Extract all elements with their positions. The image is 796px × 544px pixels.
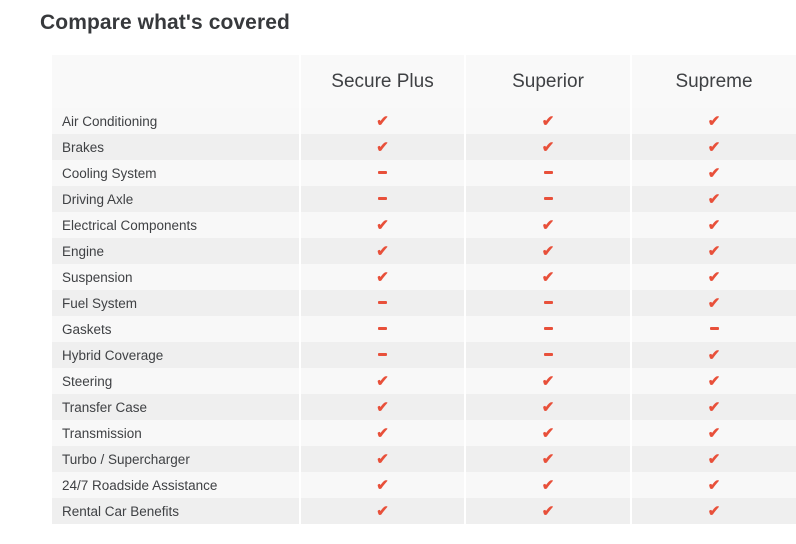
check-icon: ✔ (542, 400, 555, 415)
check-icon: ✔ (542, 452, 555, 467)
check-icon: ✔ (376, 244, 389, 259)
coverage-cell-supreme: ✔ (631, 420, 796, 446)
dash-icon (378, 327, 387, 330)
table-row: Fuel System✔ (52, 290, 796, 316)
check-icon: ✔ (708, 244, 721, 259)
check-icon: ✔ (708, 452, 721, 467)
table-row: Electrical Components✔✔✔ (52, 212, 796, 238)
table-header: Secure Plus Superior Supreme (52, 55, 796, 108)
coverage-comparison-table-wrapper: Secure Plus Superior Supreme Air Conditi… (52, 55, 796, 524)
feature-label: Turbo / Supercharger (52, 446, 300, 472)
check-icon: ✔ (708, 374, 721, 389)
check-icon: ✔ (708, 426, 721, 441)
feature-label: Driving Axle (52, 186, 300, 212)
coverage-cell-secure-plus: ✔ (300, 498, 465, 524)
coverage-cell-supreme: ✔ (631, 160, 796, 186)
coverage-comparison-table: Secure Plus Superior Supreme Air Conditi… (52, 55, 796, 524)
coverage-cell-secure-plus: ✔ (300, 108, 465, 134)
check-icon: ✔ (376, 114, 389, 129)
coverage-cell-superior: ✔ (465, 212, 631, 238)
coverage-cell-secure-plus (300, 160, 465, 186)
table-row: Steering✔✔✔ (52, 368, 796, 394)
feature-label: Hybrid Coverage (52, 342, 300, 368)
feature-label: Steering (52, 368, 300, 394)
check-icon: ✔ (376, 452, 389, 467)
check-icon: ✔ (542, 140, 555, 155)
coverage-cell-secure-plus (300, 186, 465, 212)
check-icon: ✔ (708, 270, 721, 285)
coverage-cell-secure-plus: ✔ (300, 420, 465, 446)
coverage-cell-secure-plus: ✔ (300, 368, 465, 394)
table-row: Hybrid Coverage✔ (52, 342, 796, 368)
check-icon: ✔ (708, 140, 721, 155)
check-icon: ✔ (542, 478, 555, 493)
coverage-cell-secure-plus (300, 290, 465, 316)
feature-label: Transmission (52, 420, 300, 446)
page-title: Compare what's covered (40, 9, 290, 37)
check-icon: ✔ (376, 478, 389, 493)
check-icon: ✔ (542, 374, 555, 389)
table-row: Driving Axle✔ (52, 186, 796, 212)
coverage-cell-supreme: ✔ (631, 472, 796, 498)
feature-label: Cooling System (52, 160, 300, 186)
coverage-cell-superior (465, 290, 631, 316)
coverage-cell-superior: ✔ (465, 368, 631, 394)
coverage-cell-supreme: ✔ (631, 238, 796, 264)
check-icon: ✔ (376, 140, 389, 155)
table-row: 24/7 Roadside Assistance✔✔✔ (52, 472, 796, 498)
coverage-cell-superior: ✔ (465, 420, 631, 446)
table-row: Cooling System✔ (52, 160, 796, 186)
check-icon: ✔ (708, 348, 721, 363)
coverage-cell-secure-plus: ✔ (300, 472, 465, 498)
column-header-supreme: Supreme (631, 55, 796, 108)
coverage-cell-supreme: ✔ (631, 342, 796, 368)
coverage-cell-superior (465, 186, 631, 212)
feature-label: Air Conditioning (52, 108, 300, 134)
check-icon: ✔ (708, 504, 721, 519)
check-icon: ✔ (708, 114, 721, 129)
coverage-cell-supreme: ✔ (631, 264, 796, 290)
dash-icon (544, 197, 553, 200)
coverage-cell-supreme: ✔ (631, 290, 796, 316)
table-row: Gaskets (52, 316, 796, 342)
dash-icon (544, 301, 553, 304)
column-header-superior: Superior (465, 55, 631, 108)
coverage-cell-supreme: ✔ (631, 108, 796, 134)
column-header-feature (52, 55, 300, 108)
check-icon: ✔ (708, 296, 721, 311)
coverage-cell-supreme: ✔ (631, 394, 796, 420)
coverage-cell-secure-plus: ✔ (300, 212, 465, 238)
feature-label: Fuel System (52, 290, 300, 316)
coverage-cell-secure-plus (300, 342, 465, 368)
feature-label: Transfer Case (52, 394, 300, 420)
check-icon: ✔ (542, 218, 555, 233)
coverage-cell-secure-plus (300, 316, 465, 342)
table-row: Turbo / Supercharger✔✔✔ (52, 446, 796, 472)
check-icon: ✔ (708, 166, 721, 181)
check-icon: ✔ (376, 504, 389, 519)
check-icon: ✔ (542, 244, 555, 259)
coverage-cell-supreme: ✔ (631, 186, 796, 212)
feature-label: 24/7 Roadside Assistance (52, 472, 300, 498)
coverage-cell-superior: ✔ (465, 134, 631, 160)
compare-coverage-page: Compare what's covered Secure Plus Super… (0, 0, 796, 544)
table-header-row: Secure Plus Superior Supreme (52, 55, 796, 108)
check-icon: ✔ (376, 426, 389, 441)
check-icon: ✔ (708, 218, 721, 233)
coverage-cell-superior: ✔ (465, 472, 631, 498)
coverage-cell-supreme: ✔ (631, 212, 796, 238)
coverage-cell-supreme: ✔ (631, 134, 796, 160)
coverage-cell-superior: ✔ (465, 264, 631, 290)
table-row: Suspension✔✔✔ (52, 264, 796, 290)
coverage-cell-superior: ✔ (465, 238, 631, 264)
dash-icon (710, 327, 719, 330)
check-icon: ✔ (376, 374, 389, 389)
coverage-cell-supreme: ✔ (631, 368, 796, 394)
table-row: Transmission✔✔✔ (52, 420, 796, 446)
feature-label: Rental Car Benefits (52, 498, 300, 524)
coverage-cell-supreme (631, 316, 796, 342)
check-icon: ✔ (708, 192, 721, 207)
coverage-cell-superior: ✔ (465, 394, 631, 420)
column-header-secure-plus: Secure Plus (300, 55, 465, 108)
table-row: Brakes✔✔✔ (52, 134, 796, 160)
table-body: Air Conditioning✔✔✔Brakes✔✔✔Cooling Syst… (52, 108, 796, 524)
feature-label: Gaskets (52, 316, 300, 342)
table-row: Transfer Case✔✔✔ (52, 394, 796, 420)
coverage-cell-superior: ✔ (465, 108, 631, 134)
check-icon: ✔ (708, 478, 721, 493)
coverage-cell-secure-plus: ✔ (300, 394, 465, 420)
feature-label: Brakes (52, 134, 300, 160)
feature-label: Engine (52, 238, 300, 264)
table-row: Air Conditioning✔✔✔ (52, 108, 796, 134)
check-icon: ✔ (376, 270, 389, 285)
feature-label: Electrical Components (52, 212, 300, 238)
check-icon: ✔ (708, 400, 721, 415)
coverage-cell-supreme: ✔ (631, 446, 796, 472)
coverage-cell-secure-plus: ✔ (300, 134, 465, 160)
dash-icon (544, 171, 553, 174)
coverage-cell-superior (465, 160, 631, 186)
coverage-cell-secure-plus: ✔ (300, 264, 465, 290)
check-icon: ✔ (542, 270, 555, 285)
check-icon: ✔ (542, 114, 555, 129)
coverage-cell-superior (465, 316, 631, 342)
dash-icon (544, 327, 553, 330)
feature-label: Suspension (52, 264, 300, 290)
coverage-cell-supreme: ✔ (631, 498, 796, 524)
dash-icon (378, 301, 387, 304)
table-row: Engine✔✔✔ (52, 238, 796, 264)
check-icon: ✔ (376, 400, 389, 415)
table-row: Rental Car Benefits✔✔✔ (52, 498, 796, 524)
dash-icon (378, 197, 387, 200)
coverage-cell-secure-plus: ✔ (300, 238, 465, 264)
dash-icon (544, 353, 553, 356)
dash-icon (378, 353, 387, 356)
coverage-cell-superior (465, 342, 631, 368)
coverage-cell-superior: ✔ (465, 446, 631, 472)
check-icon: ✔ (376, 218, 389, 233)
coverage-cell-secure-plus: ✔ (300, 446, 465, 472)
check-icon: ✔ (542, 504, 555, 519)
dash-icon (378, 171, 387, 174)
check-icon: ✔ (542, 426, 555, 441)
coverage-cell-superior: ✔ (465, 498, 631, 524)
